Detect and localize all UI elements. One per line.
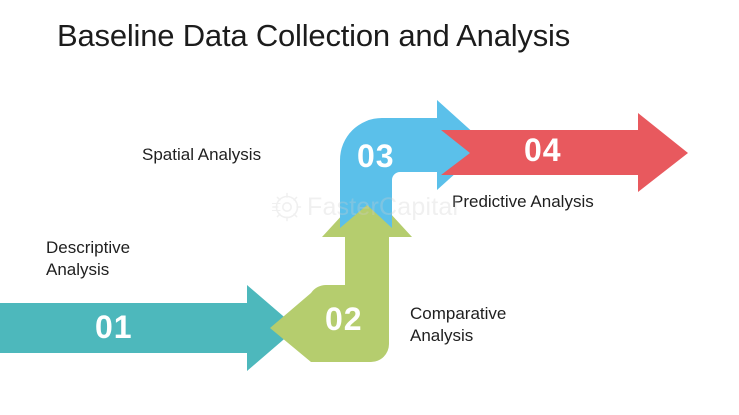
slide-canvas: Baseline Data Collection and Analysis 01… [0,0,739,415]
step-number-02: 02 [325,303,363,335]
step-label-spatial-analysis: Spatial Analysis [142,144,261,166]
arrow-step-04[interactable] [441,113,688,192]
step-number-03: 03 [357,140,395,172]
arrow-step-01[interactable] [0,285,297,371]
step-label-comparative-analysis: Comparative Analysis [410,303,506,348]
process-diagram [0,0,739,415]
step-label-descriptive-analysis: Descriptive Analysis [46,237,130,282]
step-number-04: 04 [524,134,562,166]
step-number-01: 01 [95,311,133,343]
step-label-predictive-analysis: Predictive Analysis [452,191,594,213]
